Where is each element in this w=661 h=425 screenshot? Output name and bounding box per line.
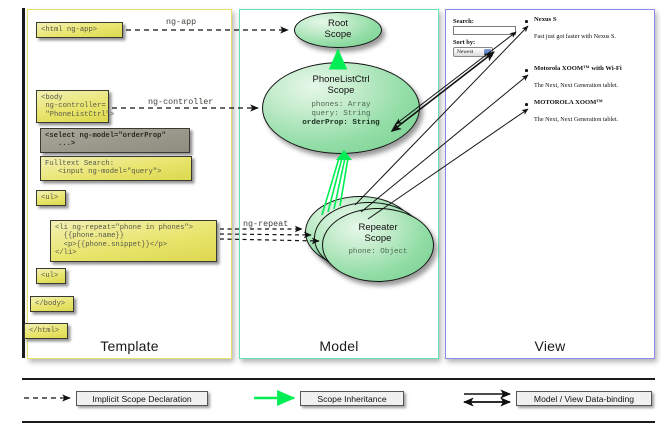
panel-model-label: Model [240, 338, 438, 354]
diagram-canvas: Template Model View <html ng-app> <body … [0, 0, 661, 425]
phonelistctrl-scope-props: phones: Array query: String [263, 101, 419, 119]
chevron-updown-icon [484, 49, 491, 55]
view-phone-name[interactable]: MOTOROLA XOOM™ [534, 99, 603, 106]
root-scope-title-2: Scope [295, 29, 381, 40]
code-box-ul-close: <ul> [36, 268, 66, 284]
phonelistctrl-scope: PhoneListCtrl Scope phones: Array query:… [262, 62, 420, 154]
view-phone-snippet: Fast just got faster with Nexus S. [534, 33, 616, 40]
view-search-label: Search: [453, 18, 474, 25]
left-vertical-rule [22, 8, 25, 358]
panel-view: View [445, 9, 655, 359]
list-bullet [525, 103, 528, 106]
root-scope: Root Scope [294, 12, 382, 48]
phonelistctrl-scope-props-bold: orderProp: String [263, 119, 419, 128]
view-sort-selected-value: Newest [457, 49, 473, 55]
list-bullet [525, 20, 528, 23]
code-box-li-repeat: <li ng-repeat="phone in phones"> {{phone… [50, 220, 217, 262]
phonelistctrl-scope-title-2: Scope [263, 85, 419, 96]
view-sort-select[interactable]: Newest [453, 47, 493, 57]
repeater-scope-title-2: Scope [323, 233, 433, 244]
repeater-scope-props: phone: Object [323, 248, 433, 257]
legend-item-scope-inheritance: Scope Inheritance [300, 391, 404, 406]
panel-template-label: Template [28, 338, 231, 354]
code-box-html-tag: <html ng-app> [36, 22, 123, 38]
legend-top-rule [22, 378, 655, 380]
code-box-search-input: Fulltext Search: <input ng-model="query"… [40, 156, 192, 181]
phonelistctrl-scope-title-1: PhoneListCtrl [263, 74, 419, 85]
edge-label-ng-repeat: ng-repeat [243, 219, 288, 229]
view-phone-name[interactable]: Nexus S [534, 16, 557, 23]
edge-label-ng-app: ng-app [166, 17, 196, 27]
list-bullet [525, 69, 528, 72]
view-search-input[interactable] [453, 26, 516, 35]
legend-bottom-rule [22, 421, 655, 423]
code-box-body-tag: <body ng-controller= "PhoneListCtrl"> [36, 90, 109, 123]
root-scope-title-1: Root [295, 18, 381, 29]
repeater-scope: Repeater Scope phone: Object [322, 208, 434, 282]
legend-item-model-view-data-binding: Model / View Data-binding [516, 391, 652, 406]
view-sort-label: Sort by: [453, 39, 475, 46]
view-phone-name[interactable]: Motorola XOOM™ with Wi-Fi [534, 65, 622, 72]
view-phone-snippet: The Next, Next Generation tablet. [534, 82, 618, 89]
code-box-ul-open: <ul> [36, 190, 66, 206]
repeater-scope-title-1: Repeater [323, 222, 433, 233]
legend-item-implicit-scope-declaration: Implicit Scope Declaration [76, 391, 208, 406]
panel-view-label: View [446, 338, 654, 354]
edge-label-ng-controller: ng-controller [148, 97, 213, 107]
view-phone-snippet: The Next, Next Generation tablet. [534, 116, 618, 123]
code-box-html-close: </html> [24, 323, 68, 339]
legend-double-arrow-icon [464, 394, 510, 402]
code-box-body-close: </body> [30, 296, 74, 312]
code-box-select-tag: <select ng-model="orderProp" ...> [40, 128, 190, 153]
